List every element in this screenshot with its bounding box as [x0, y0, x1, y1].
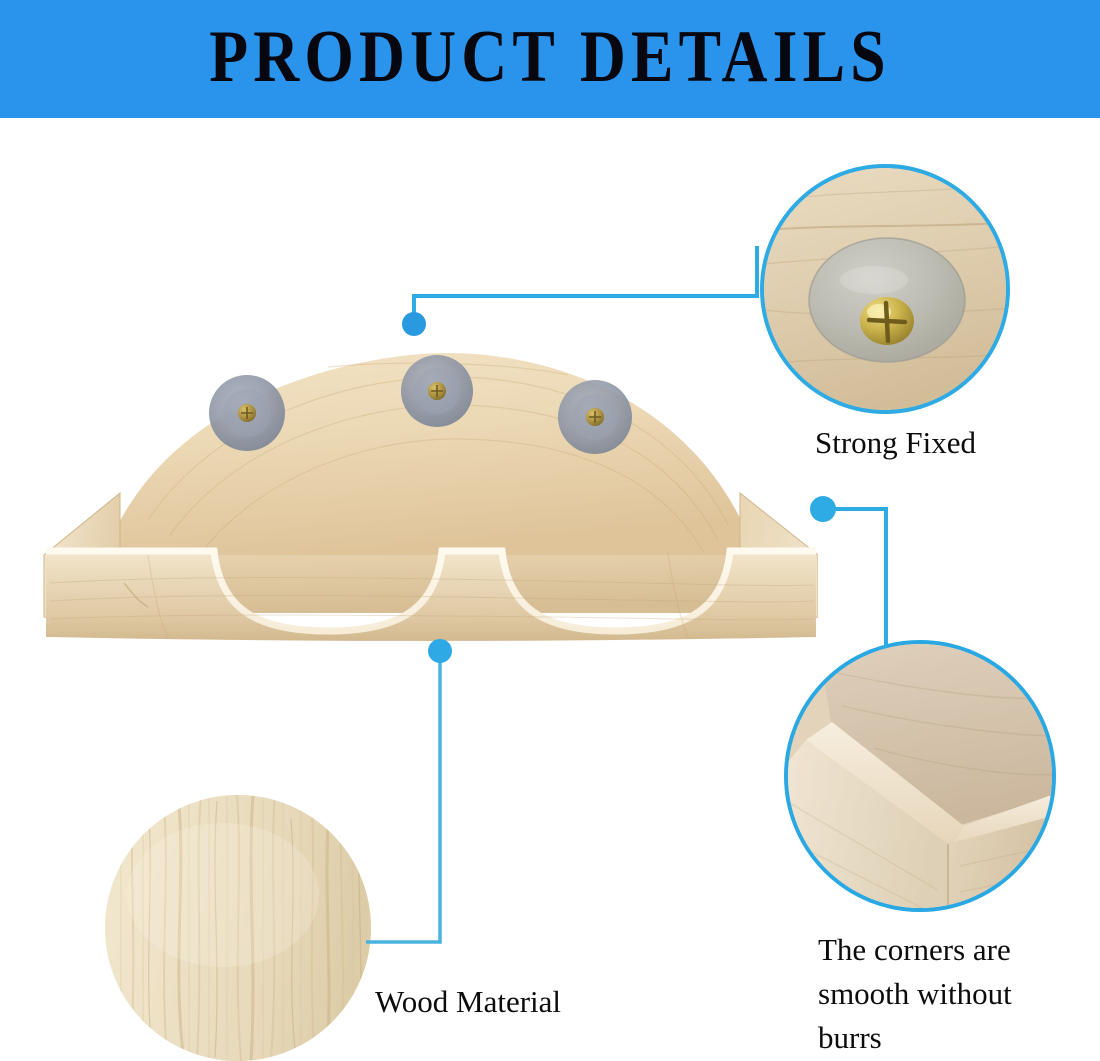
mounting-screw-3	[558, 380, 632, 454]
screw-closeup-image	[764, 168, 1010, 414]
header-banner: PRODUCT DETAILS	[0, 0, 1100, 118]
mounting-screw-1	[209, 375, 285, 451]
caption-corners: The corners are smooth without burrs	[818, 928, 1088, 1060]
wood-grain-closeup-image	[105, 795, 371, 1061]
callout-circle-corners	[784, 640, 1056, 912]
callout-circle-wood-material	[105, 795, 371, 1061]
callout-circle-strong-fixed	[760, 164, 1010, 414]
caption-wood-material: Wood Material	[375, 980, 675, 1024]
connector-line-strong-fixed	[414, 246, 757, 324]
page-title: PRODUCT DETAILS	[77, 14, 1023, 100]
connector-dot-strong-fixed	[402, 312, 426, 336]
caption-strong-fixed: Strong Fixed	[815, 421, 1075, 465]
connector-line-corners	[823, 509, 886, 648]
corner-closeup-image	[788, 644, 1056, 912]
product-photo-wooden-shelf	[28, 345, 818, 645]
product-details-infographic: PRODUCT DETAILS	[0, 0, 1100, 1061]
connector-line-wood-material	[366, 651, 440, 942]
mounting-screw-2	[401, 355, 473, 427]
